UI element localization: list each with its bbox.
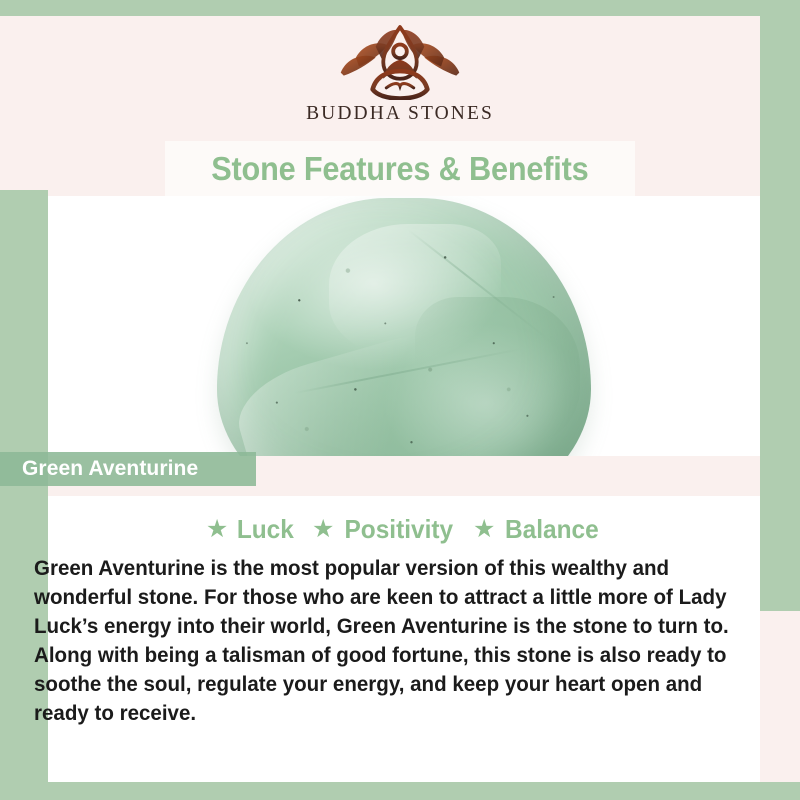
keyword-item-luck: ★ Luck bbox=[206, 514, 296, 545]
keyword-label: Balance bbox=[505, 514, 599, 545]
stone-info-poster: BUDDHA STONES Stone Features & Benefits … bbox=[0, 0, 800, 800]
page-title: Stone Features & Benefits bbox=[211, 150, 588, 188]
keyword-item-balance: ★ Balance bbox=[473, 514, 602, 545]
stone-name: Green Aventurine bbox=[22, 457, 198, 481]
description-panel: ★ Luck ★ Positivity ★ Balance Green Aven… bbox=[48, 496, 760, 782]
frame-top-bar bbox=[0, 0, 800, 16]
stone-image bbox=[217, 198, 591, 456]
stone-photo bbox=[48, 196, 760, 456]
star-icon: ★ bbox=[206, 517, 228, 542]
stone-name-band: Green Aventurine bbox=[0, 452, 256, 486]
panel-divider bbox=[48, 486, 760, 496]
lotus-meditation-figure-icon bbox=[315, 24, 485, 100]
stone-body bbox=[217, 198, 591, 456]
description-text: Green Aventurine is the most popular ver… bbox=[34, 554, 741, 728]
title-banner: Stone Features & Benefits bbox=[165, 141, 635, 196]
stone-mineral-speckles bbox=[217, 198, 591, 456]
star-icon: ★ bbox=[473, 517, 495, 542]
frame-bottom-bar bbox=[0, 782, 800, 800]
star-icon: ★ bbox=[312, 517, 334, 542]
brand-name: BUDDHA STONES bbox=[306, 103, 494, 125]
keyword-label: Luck bbox=[237, 514, 294, 545]
keyword-list: ★ Luck ★ Positivity ★ Balance bbox=[48, 514, 760, 545]
brand-header: BUDDHA STONES bbox=[0, 16, 800, 140]
keyword-label: Positivity bbox=[345, 514, 454, 545]
keyword-item-positivity: ★ Positivity bbox=[312, 514, 457, 545]
